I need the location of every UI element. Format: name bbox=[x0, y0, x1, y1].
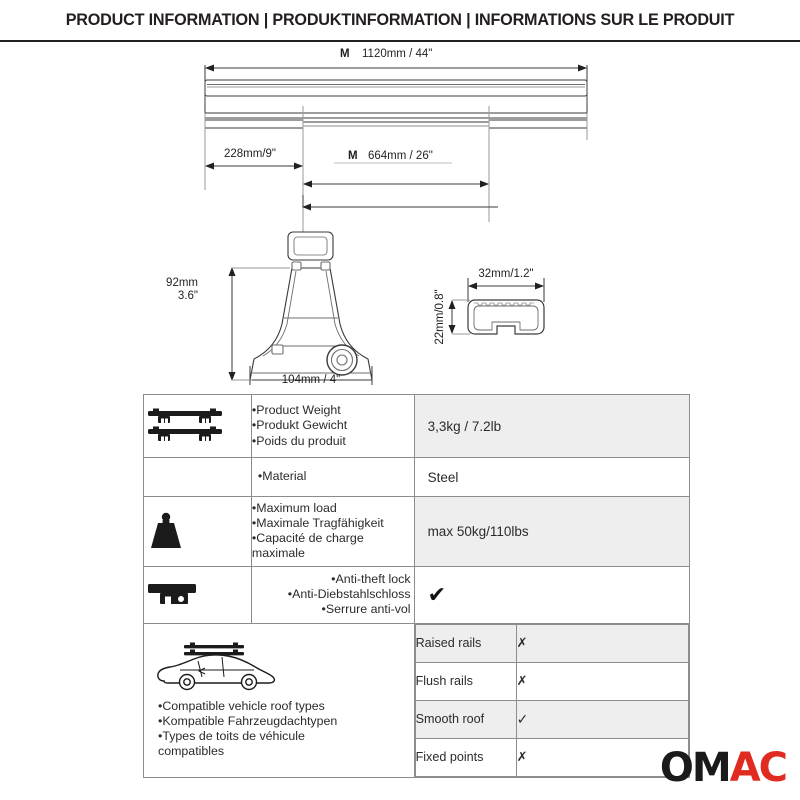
foot-spacing-prefix: M bbox=[348, 150, 358, 162]
material-icon-placeholder bbox=[144, 458, 252, 497]
table-row-anti-theft-lock: •Anti-theft lock •Anti-Diebstahlschloss … bbox=[144, 566, 690, 623]
foot-leader-line bbox=[303, 195, 498, 207]
profile-height-value: 22mm/0.8" bbox=[434, 289, 446, 344]
label-line: •Compatible vehicle roof types bbox=[158, 699, 408, 714]
table-row-product-weight: •Product Weight •Produkt Gewicht •Poids … bbox=[144, 395, 690, 458]
roof-type-row-flush-rails: Flush rails ✗ bbox=[415, 662, 688, 700]
label-line: •Anti-theft lock bbox=[252, 572, 411, 587]
roof-type-support: ✓ bbox=[516, 700, 688, 738]
logo-text-dark: OM bbox=[660, 745, 730, 791]
header-bar: PRODUCT INFORMATION | PRODUKTINFORMATION… bbox=[0, 0, 800, 42]
lock-icon bbox=[144, 566, 252, 623]
foot-width-value: 104mm / 4" bbox=[282, 374, 340, 385]
roof-type-support: ✗ bbox=[516, 662, 688, 700]
foot-front-view bbox=[250, 232, 372, 380]
table-cell-value: 3,3kg / 7.2lb bbox=[414, 395, 689, 458]
profile-width-dimension bbox=[468, 278, 544, 302]
crossbar-top-view bbox=[205, 80, 587, 96]
checkmark-icon: ✔ bbox=[428, 582, 446, 607]
roof-type-label: Raised rails bbox=[415, 624, 516, 662]
bar-length-prefix: M bbox=[340, 48, 350, 60]
roof-type-row-smooth-roof: Smooth roof ✓ bbox=[415, 700, 688, 738]
label-line: compatibles bbox=[158, 744, 408, 759]
foot-spacing-dimension bbox=[304, 163, 488, 184]
crossbars-icon bbox=[144, 395, 252, 458]
table-row-compatibility: •Compatible vehicle roof types •Kompatib… bbox=[144, 623, 690, 777]
foot-spacing-value: 664mm / 26" bbox=[368, 150, 433, 162]
technical-drawing: M 1120mm / 44" 228mm/9" M 664mm / 26" 92… bbox=[0, 40, 800, 385]
profile-height-dimension bbox=[452, 300, 470, 334]
bar-length-dimension bbox=[205, 65, 587, 140]
weight-icon bbox=[144, 497, 252, 567]
roof-type-row-raised-rails: Raised rails ✗ bbox=[415, 624, 688, 662]
table-cell-value: Steel bbox=[414, 458, 689, 497]
cross-icon: ✗ bbox=[517, 673, 528, 688]
bar-length-value: 1120mm / 44" bbox=[362, 48, 432, 60]
table-cell-value: ✔ bbox=[414, 566, 689, 623]
roof-type-row-fixed-points: Fixed points ✗ bbox=[415, 738, 688, 776]
label-line: •Maximum load bbox=[252, 501, 412, 516]
car-with-rack-icon bbox=[150, 639, 282, 695]
roof-type-label: Smooth roof bbox=[415, 700, 516, 738]
label-line: •Capacité de charge maximale bbox=[252, 531, 412, 561]
label-line: •Produkt Gewicht bbox=[252, 418, 412, 433]
label-line: •Material bbox=[258, 469, 412, 484]
cross-icon: ✗ bbox=[517, 749, 528, 764]
label-line: •Types de toits de véhicule bbox=[158, 729, 408, 744]
label-line: •Poids du produit bbox=[252, 434, 412, 449]
label-line: •Kompatible Fahrzeugdachtypen bbox=[158, 714, 408, 729]
table-cell-value: max 50kg/110lbs bbox=[414, 497, 689, 567]
roof-type-table: Raised rails ✗ Flush rails ✗ Smooth roof… bbox=[415, 624, 689, 777]
table-cell-label: •Product Weight •Produkt Gewicht •Poids … bbox=[251, 395, 414, 458]
specifications-table: •Product Weight •Produkt Gewicht •Poids … bbox=[143, 394, 690, 778]
roof-type-label: Fixed points bbox=[415, 738, 516, 776]
table-row-material: •Material Steel bbox=[144, 458, 690, 497]
label-line: •Product Weight bbox=[252, 403, 412, 418]
logo-text-accent: AC bbox=[730, 745, 786, 791]
table-row-maximum-load: •Maximum load •Maximale Tragfähigkeit •C… bbox=[144, 497, 690, 567]
table-cell-label: •Anti-theft lock •Anti-Diebstahlschloss … bbox=[251, 566, 414, 623]
omac-logo: OMAC bbox=[660, 748, 786, 788]
label-line: •Serrure anti-vol bbox=[252, 602, 411, 617]
compatibility-matrix: Raised rails ✗ Flush rails ✗ Smooth roof… bbox=[414, 623, 689, 777]
foot-offset-value: 228mm/9" bbox=[224, 148, 276, 160]
check-icon: ✓ bbox=[517, 711, 529, 727]
foot-height-line2: 3.6" bbox=[178, 290, 198, 302]
page-title: PRODUCT INFORMATION | PRODUKTINFORMATION… bbox=[66, 11, 735, 30]
cross-icon: ✗ bbox=[517, 635, 528, 650]
profile-width-value: 32mm/1.2" bbox=[478, 268, 533, 280]
compatibility-description: •Compatible vehicle roof types •Kompatib… bbox=[144, 623, 415, 777]
table-cell-label: •Maximum load •Maximale Tragfähigkeit •C… bbox=[251, 497, 414, 567]
table-cell-label: •Material bbox=[251, 458, 414, 497]
label-line: •Anti-Diebstahlschloss bbox=[252, 587, 411, 602]
roof-type-support: ✗ bbox=[516, 624, 688, 662]
label-line: •Maximale Tragfähigkeit bbox=[252, 516, 412, 531]
roof-type-label: Flush rails bbox=[415, 662, 516, 700]
crossbar-side-view bbox=[205, 113, 587, 128]
profile-cross-section bbox=[468, 300, 544, 334]
foot-height-line1: 92mm bbox=[166, 277, 198, 289]
